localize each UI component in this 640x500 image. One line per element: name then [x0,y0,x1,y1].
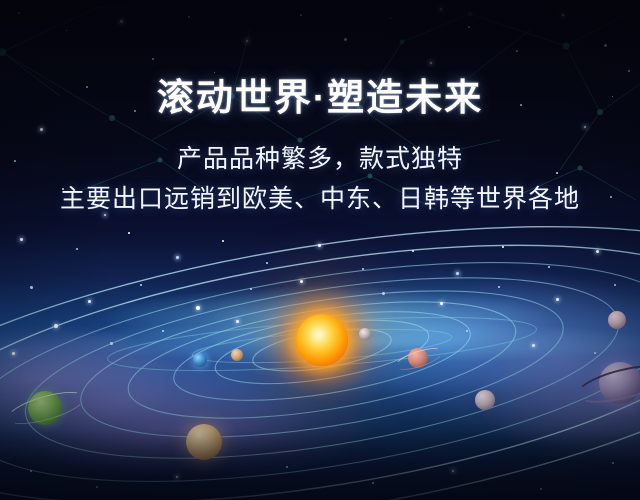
subtitle-line-1: 产品品种繁多，款式独特 [0,119,640,177]
headline-block: 滚动世界·塑造未来 产品品种繁多，款式独特 主要出口远销到欧美、中东、日韩等世界… [0,0,640,217]
subtitle-line-2: 主要出口远销到欧美、中东、日韩等世界各地 [0,177,640,217]
page-title: 滚动世界·塑造未来 [0,0,640,119]
space-banner: 滚动世界·塑造未来 产品品种繁多，款式独特 主要出口远销到欧美、中东、日韩等世界… [0,0,640,500]
